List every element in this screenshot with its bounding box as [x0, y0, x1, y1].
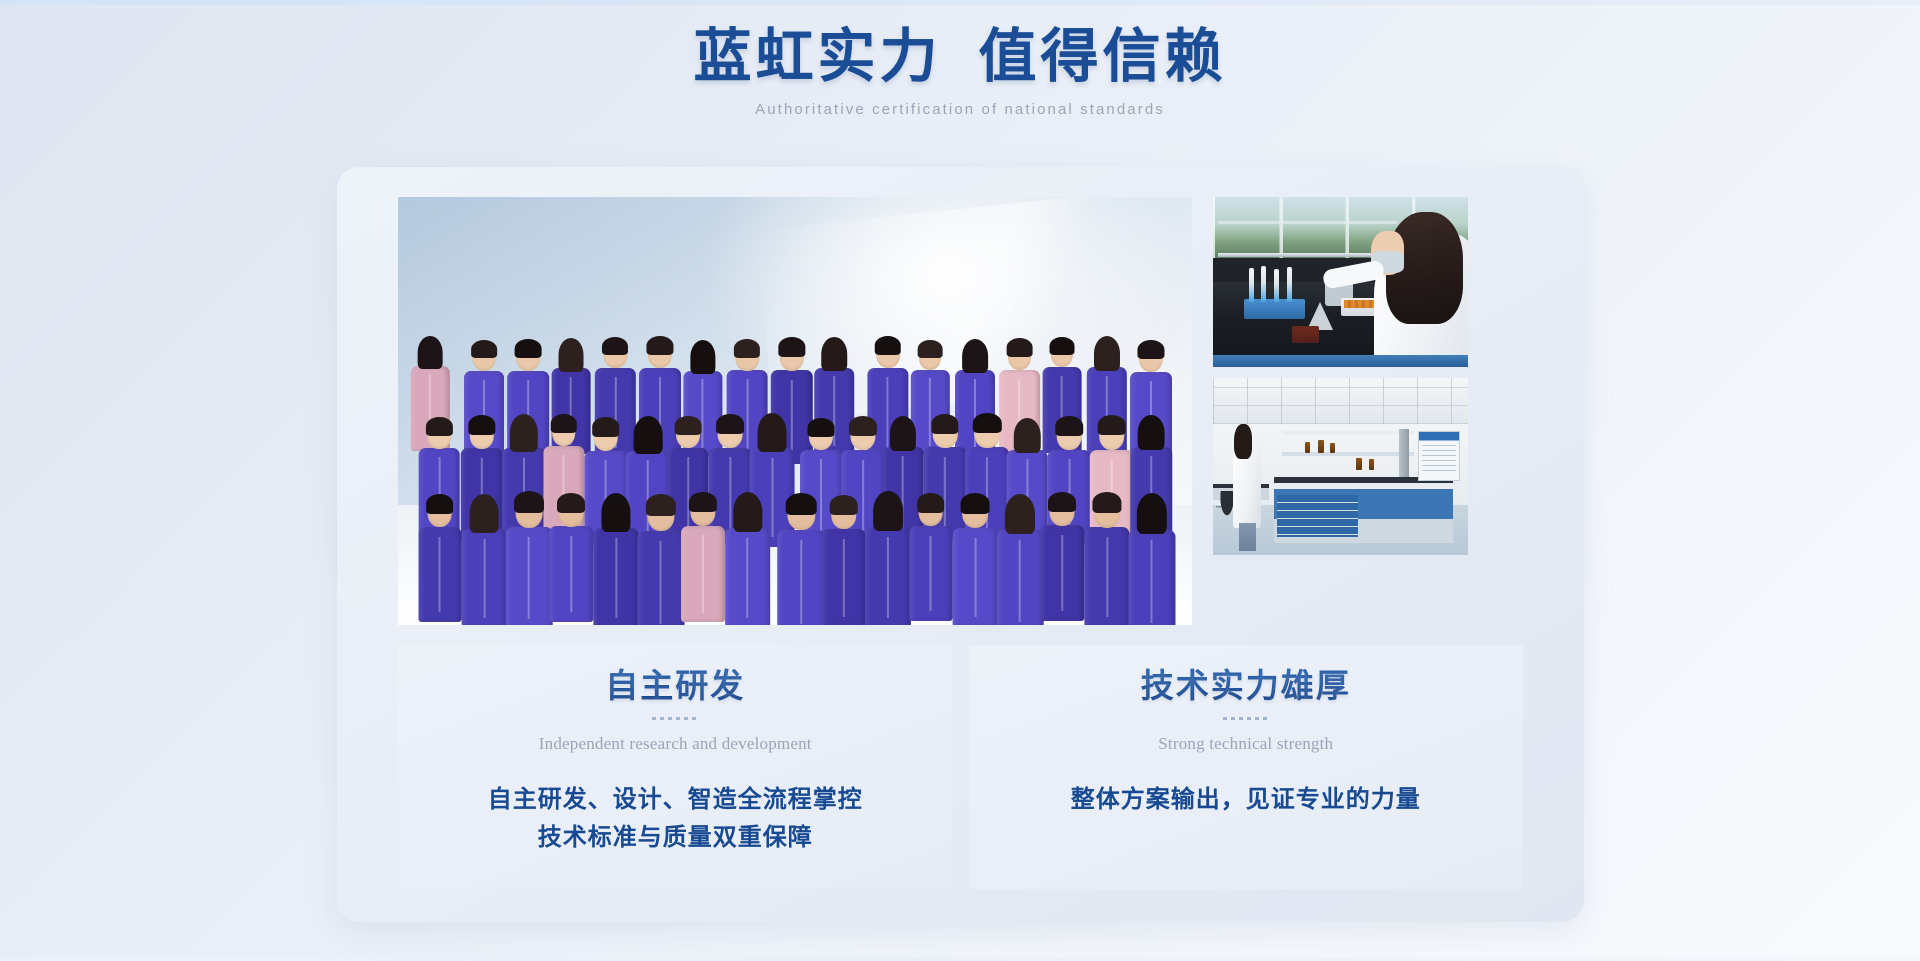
team-member-figure — [593, 493, 638, 625]
lab-interior-photo — [1213, 378, 1468, 555]
team-member-figure — [1041, 492, 1084, 621]
figure-uniform — [506, 527, 553, 625]
figure-uniform — [1041, 525, 1084, 621]
figure-hair — [690, 340, 715, 374]
figure-hair — [558, 338, 583, 371]
team-member-figure — [1084, 492, 1129, 625]
figure-hair — [875, 336, 902, 355]
figure-hair — [1005, 494, 1035, 534]
team-group-photo — [398, 197, 1192, 625]
card-title: 技术实力雄厚 — [969, 666, 1524, 708]
figure-uniform — [909, 526, 952, 621]
feature-card-independent-rd: 自主研发 Independent research and developmen… — [398, 645, 953, 889]
figure-hair — [515, 339, 542, 358]
figure-hair — [1014, 418, 1040, 453]
lab-pipetting-photo — [1213, 197, 1468, 367]
figure-uniform — [462, 529, 507, 625]
page-root: 蓝虹实力 值得信赖 Authoritative certification of… — [0, 0, 1920, 961]
lab-ceiling — [1213, 378, 1468, 424]
figure-hair — [1056, 416, 1084, 436]
team-member-figure — [637, 494, 684, 625]
page-header: 蓝虹实力 值得信赖 Authoritative certification of… — [0, 22, 1920, 118]
reagent-bottle — [1318, 440, 1324, 453]
figure-hair — [758, 413, 787, 452]
figure-uniform — [821, 529, 865, 625]
figure-hair — [674, 416, 701, 435]
reagent-bottle — [1356, 458, 1362, 470]
figure-hair — [716, 414, 744, 434]
figure-hair — [1137, 493, 1167, 534]
bench-rail — [1218, 221, 1397, 224]
figure-uniform — [997, 530, 1044, 625]
feature-card-list: 自主研发 Independent research and developmen… — [398, 645, 1523, 889]
card-body: 自主研发、设计、智造全流程掌控 技术标准与质量双重保障 — [398, 781, 953, 857]
figure-hair — [468, 415, 495, 435]
figure-hair — [918, 340, 943, 358]
team-crowd — [399, 317, 1191, 617]
figure-uniform — [593, 528, 638, 625]
figure-hair — [1006, 338, 1033, 357]
figure-hair — [550, 414, 576, 433]
figure-hair — [849, 416, 877, 436]
figure-uniform — [778, 530, 825, 625]
figure-hair — [510, 414, 538, 452]
card-subtitle: Independent research and development — [398, 734, 953, 754]
pipette-icon — [1287, 267, 1292, 302]
figure-uniform — [681, 526, 725, 623]
dotted-divider-icon — [652, 717, 698, 720]
photo-grid — [398, 197, 1523, 625]
pipette-rack — [1244, 299, 1305, 319]
figure-hair — [470, 494, 499, 533]
dotted-divider-icon — [1223, 717, 1269, 720]
figure-hair — [890, 416, 916, 451]
figure-hair — [961, 493, 990, 514]
team-member-figure — [462, 494, 507, 625]
figure-hair — [634, 416, 663, 454]
technician-hair — [1234, 424, 1252, 459]
figure-hair — [1097, 415, 1126, 435]
figure-uniform — [953, 528, 998, 625]
lab-interior-scene — [1213, 378, 1468, 555]
figure-hair — [734, 339, 760, 358]
figure-hair — [1049, 337, 1074, 355]
team-member-figure — [865, 491, 911, 625]
team-photo-scene — [398, 197, 1192, 625]
team-member-figure — [506, 491, 553, 625]
pipette-icon — [1261, 266, 1266, 302]
team-member-figure — [997, 494, 1044, 625]
reagent-bottle — [1305, 442, 1310, 453]
figure-hair — [426, 417, 452, 436]
figure-uniform — [725, 528, 771, 625]
team-member-figure — [1128, 493, 1175, 625]
reagent-shelf — [1282, 431, 1415, 477]
page-title: 蓝虹实力 值得信赖 — [0, 22, 1920, 92]
lab-pipetting-scene — [1213, 197, 1468, 367]
figure-hair — [1138, 340, 1165, 359]
figure-hair — [807, 418, 834, 437]
figure-hair — [917, 493, 945, 513]
team-member-figure — [953, 493, 998, 625]
figure-hair — [786, 493, 817, 515]
figure-uniform — [865, 527, 911, 625]
figure-hair — [418, 336, 443, 369]
figure-uniform — [1128, 530, 1175, 626]
figure-hair — [514, 491, 544, 512]
figure-hair — [601, 493, 630, 532]
page-subtitle: Authoritative certification of national … — [0, 101, 1920, 118]
team-member-figure — [821, 495, 865, 625]
figure-hair — [733, 492, 762, 531]
card-subtitle: Strong technical strength — [969, 734, 1524, 754]
card-body-line: 技术标准与质量双重保障 — [398, 819, 953, 857]
team-member-figure — [418, 494, 461, 622]
figure-hair — [1138, 415, 1165, 451]
figure-hair — [829, 495, 858, 515]
team-member-figure — [725, 492, 771, 625]
pipette-icon — [1274, 269, 1279, 302]
figure-uniform — [1084, 527, 1129, 625]
safety-poster — [1418, 431, 1461, 481]
figure-hair — [1094, 336, 1120, 371]
figure-hair — [1048, 492, 1076, 512]
feature-card-technical-strength: 技术实力雄厚 Strong technical strength 整体方案输出，… — [969, 645, 1524, 889]
team-member-figure — [909, 493, 952, 621]
card-title: 自主研发 — [398, 666, 953, 708]
figure-hair — [647, 336, 674, 355]
team-member-figure — [778, 493, 825, 625]
pipette-icon — [1249, 268, 1254, 302]
reagent-bottle — [1330, 443, 1335, 453]
figure-hair — [689, 492, 717, 512]
figure-hair — [932, 414, 959, 434]
card-body-line: 整体方案输出，见证专业的力量 — [969, 781, 1524, 819]
figure-hair — [557, 493, 585, 513]
figure-hair — [962, 339, 988, 374]
bench-edge — [1213, 355, 1468, 367]
reagent-bottle — [1292, 326, 1306, 343]
reagent-bottle — [1369, 459, 1374, 470]
figure-uniform — [418, 527, 461, 622]
island-drawers — [1277, 495, 1359, 537]
figure-uniform — [549, 526, 592, 622]
team-member-figure — [549, 493, 592, 622]
card-body: 整体方案输出，见证专业的力量 — [969, 781, 1524, 819]
figure-hair — [821, 337, 847, 371]
figure-hair — [645, 494, 675, 516]
figure-hair — [973, 413, 1001, 433]
figure-hair — [873, 491, 903, 531]
figure-hair — [778, 337, 805, 357]
card-body-line: 自主研发、设计、智造全流程掌控 — [398, 781, 953, 819]
figure-hair — [602, 337, 628, 356]
technician-legs — [1239, 523, 1257, 551]
figure-hair — [471, 340, 497, 358]
figure-uniform — [637, 531, 684, 626]
content-panel: 自主研发 Independent research and developmen… — [337, 167, 1584, 922]
reagent-bottle — [1305, 326, 1319, 343]
figure-hair — [592, 417, 620, 437]
team-member-figure — [681, 492, 725, 623]
figure-hair — [426, 494, 454, 514]
figure-hair — [1092, 492, 1121, 513]
